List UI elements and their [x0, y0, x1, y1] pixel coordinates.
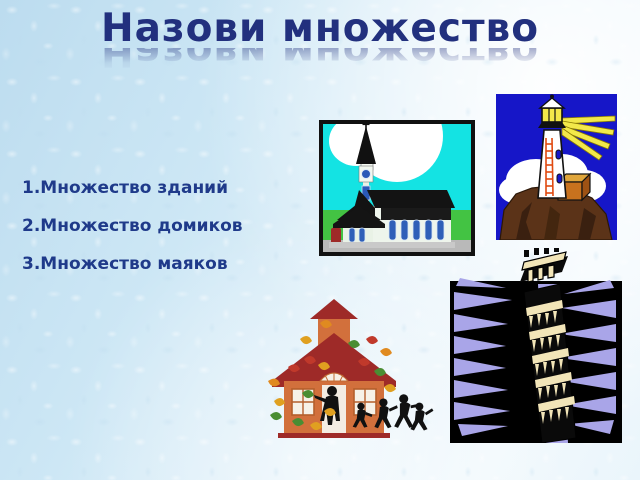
page-title-reflection: Назови множество	[0, 48, 640, 74]
answer-list: 1.Множество зданий 2.Множество домиков 3…	[22, 178, 307, 292]
schoolhouse-illustration	[262, 285, 434, 447]
pisa-illustration	[450, 248, 622, 443]
church-illustration	[323, 124, 471, 252]
list-item: 2.Множество домиков	[22, 216, 307, 237]
page-title-reflection-text: Назови множество	[0, 48, 640, 74]
lighthouse-image	[496, 94, 617, 240]
slide-title-block: Назови множество Назови множество	[0, 6, 640, 74]
list-item: 3.Множество маяков	[22, 254, 307, 275]
leaning-tower-image	[450, 248, 622, 443]
page-title: Назови множество	[0, 6, 640, 52]
slide-canvas: Назови множество Назови множество 1.Множ…	[0, 0, 640, 480]
church-image	[319, 120, 475, 256]
list-item: 1.Множество зданий	[22, 178, 307, 199]
schoolhouse-image	[262, 285, 434, 447]
lighthouse-illustration	[496, 94, 617, 240]
